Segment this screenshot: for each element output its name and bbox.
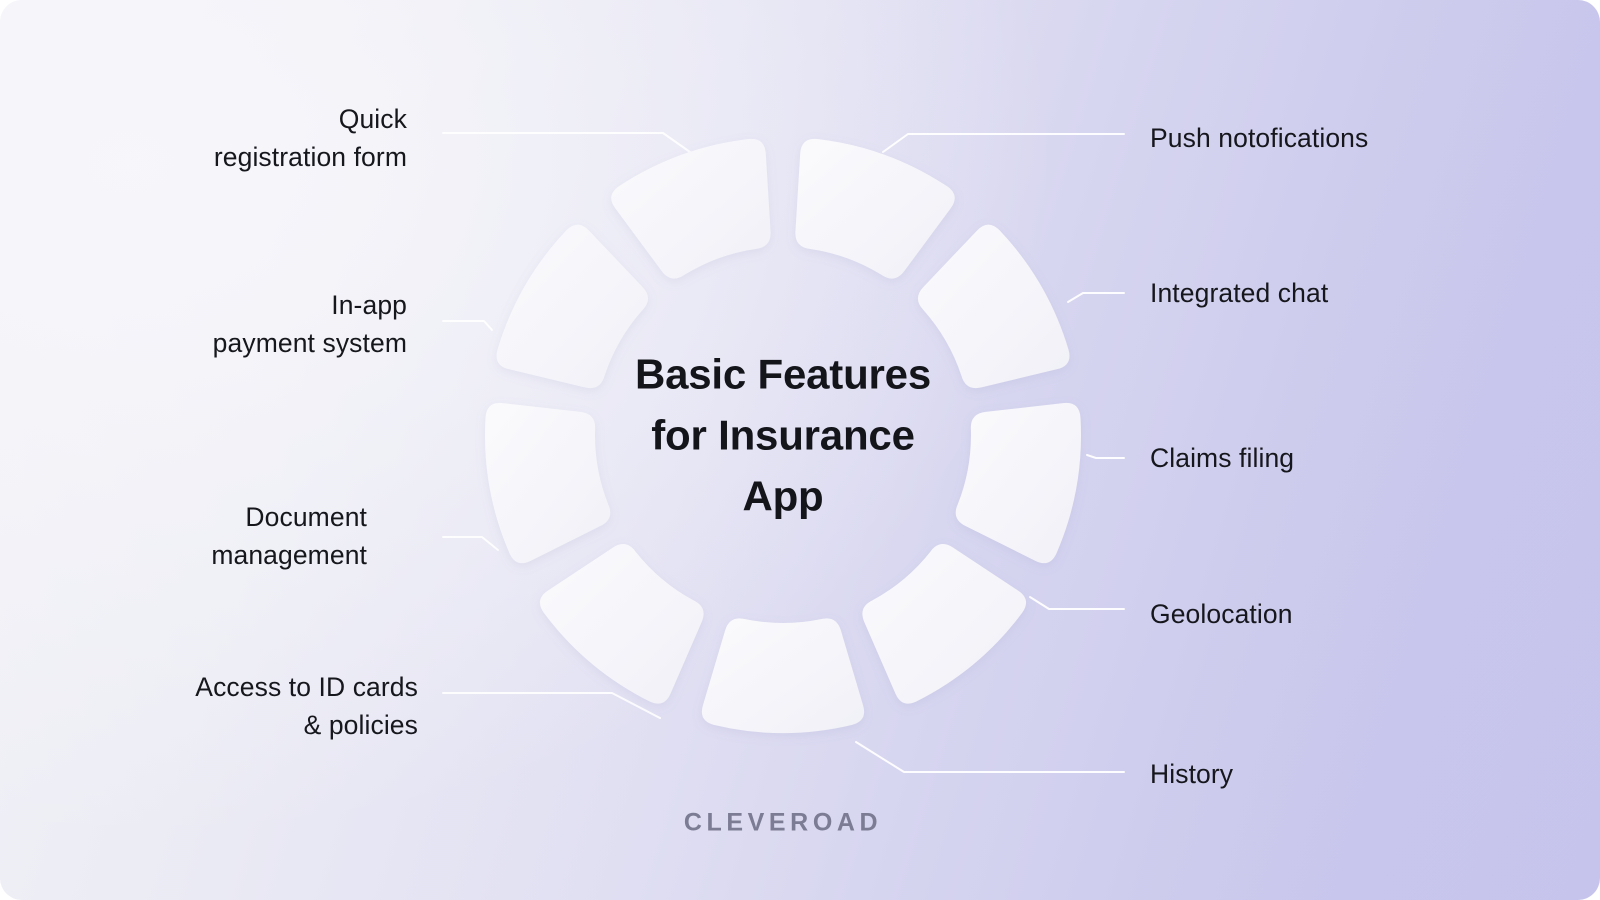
leader-geolocation [1030,597,1124,609]
page-title: Basic Features for Insurance App [573,344,993,527]
brand-watermark: CLEVEROAD [684,809,882,838]
leader-integrated-chat [1068,293,1124,302]
feature-label-access-to-id-cards-and-policies: Access to ID cards & policies [195,668,418,744]
donut-segment[interactable] [611,139,770,279]
infographic-canvas: Basic Features for Insurance App Quick r… [0,0,1600,900]
donut-segment[interactable] [540,544,704,704]
leader-claims-filing [1087,455,1124,458]
donut-segment[interactable] [702,618,864,733]
feature-label-push-notofications: Push notofications [1150,119,1368,157]
feature-label-in-app-payment-system: In-app payment system [213,286,407,362]
feature-label-integrated-chat: Integrated chat [1150,274,1328,312]
feature-label-geolocation: Geolocation [1150,595,1293,633]
feature-label-claims-filing: Claims filing [1150,439,1294,477]
leader-in-app-payment-system [443,321,492,330]
leader-document-management [443,537,498,550]
leader-push-notofications [883,134,1124,152]
donut-segment[interactable] [795,139,954,279]
feature-label-history: History [1150,755,1233,793]
leader-access-id-cards [443,693,660,718]
donut-segment[interactable] [862,544,1026,704]
feature-label-document-management: Document management [211,498,367,574]
leader-history [856,742,1124,772]
feature-label-quick-registration-form: Quick registration form [214,100,407,176]
leader-quick-registration-form [443,133,690,152]
